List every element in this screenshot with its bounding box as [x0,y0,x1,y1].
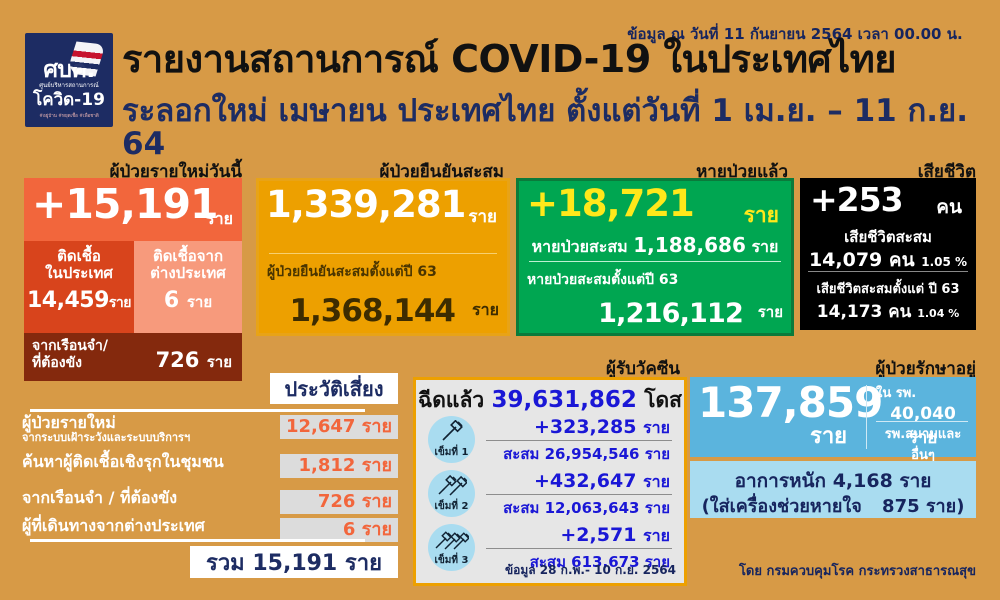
card-imported: ติดเชื้อจาก ต่างประเทศ 6 ราย [134,241,242,333]
dose-1-new-value: +323,285 [534,416,636,438]
imported-value: 6 [164,288,179,313]
risk-row-label: ผู้ป่วยรายใหม่ จากระบบเฝ้าระวังและระบบบร… [22,415,190,443]
domestic-value-wrap: 14,459ราย [24,288,134,314]
cumulative-value: 1,339,281 [266,186,465,223]
card-treatment: 137,859 ราย ใน รพ. 40,040 ราย รพ.สนามและ… [690,377,976,457]
recovered-cumulative-row: หายป่วยสะสม 1,188,686 ราย [527,233,783,260]
risk-row-label: ค้นหาผู้ติดเชื้อเชิงรุกในชุมชน [22,454,224,471]
domestic-unit: ราย [109,295,131,311]
risk-row-0: ผู้ป่วยรายใหม่ จากระบบเฝ้าระวังและระบบบร… [22,415,398,443]
dose-2-cum: สะสม 12,063,643 ราย [503,496,670,520]
vaccine-header-unit: โดส [644,388,682,412]
recovered-cum-unit: ราย [751,237,778,256]
risk-history-tag: ประวัติเสี่ยง [270,373,398,404]
imported-label: ติดเชื้อจาก ต่างประเทศ [134,241,242,283]
cumulative-unit: ราย [468,203,497,230]
risk-history-rule-top [30,409,365,412]
risk-history-total: รวม 15,191 ราย [190,546,398,578]
prison-label: จากเรือนจำ/ ที่ต้องขัง [32,338,108,372]
risk-row-label-text: จากเรือนจำ / ที่ต้องขัง [22,488,177,507]
thai-flag-icon [66,42,105,77]
dose-1-cum: สะสม 26,954,546 ราย [503,442,670,466]
ventilator-label: (ใส่เครื่องช่วยหายใจ [702,496,862,517]
dose-3-new: +2,571 ราย [560,524,670,549]
risk-row-label-text: ค้นหาผู้ติดเชื้อเชิงรุกในชุมชน [22,452,224,471]
vaccine-header-value: 39,631,862 [491,387,637,413]
deaths-since63-label: เสียชีวิตสะสมตั้งแต่ ปี 63 [800,278,976,299]
prison-unit: ราย [207,353,232,371]
risk-row-label-text: ผู้ป่วยรายใหม่ [22,413,116,432]
vaccine-dose-2: เข็มที่ 2 +432,647 ราย สะสม 12,063,643 ร… [424,470,676,517]
dose-2-new: +432,647 ราย [534,470,670,495]
recovered-since63-label: หายป่วยสะสมตั้งแต่ปี 63 [527,269,678,291]
new-cases-unit: ราย [206,207,233,232]
imported-unit: ราย [187,293,212,311]
treatment-hospital-label: ใน รพ. [876,382,970,403]
ventilator-row: (ใส่เครื่องช่วยหายใจ 875 ราย) [690,491,976,520]
recovered-unit: ราย [744,199,779,232]
recovered-cum-label: หายป่วยสะสม [532,237,628,256]
dose-2-new-unit: ราย [643,472,670,491]
new-cases-value: +15,191 [32,184,218,225]
risk-row-value: 1,812 ราย [280,454,398,478]
risk-row-sublabel: จากระบบเฝ้าระวังและระบบบริการฯ [22,432,190,444]
risk-row-label: ผู้ที่เดินทางจากต่างประเทศ [22,518,205,535]
ccsa-logo: ศบค. ศูนย์บริหารสถานการณ์ โควิด-19 #อยู่… [25,33,113,127]
ventilator-value: 875 ราย) [882,496,964,517]
logo-covid: โควิด-19 [33,92,105,109]
deaths-value: +253 [810,183,903,216]
card-vaccine: ฉีดแล้ว 39,631,862 โดส เข็มที่ 1 +323,28… [413,377,687,586]
card-recovered: +18,721 ราย หายป่วยสะสม 1,188,686 ราย หา… [516,178,794,336]
vaccine-dose-1: เข็มที่ 1 +323,285 ราย สะสม 26,954,546 ร… [424,416,676,463]
prison-value: 726 [156,348,200,372]
recovered-cum-value: 1,188,686 [633,233,746,257]
deaths-unit: คน [936,192,962,222]
divider [866,385,867,449]
deaths-cum-pct: 1.05 % [921,255,967,269]
risk-row-label: จากเรือนจำ / ที่ต้องขัง [22,490,177,507]
divider [876,421,968,422]
vaccine-header-label: ฉีดแล้ว [418,388,484,412]
credit-line: โดย กรมควบคุมโรค กระทรวงสาธารณสุข [739,560,976,581]
vaccine-footnote: ข้อมูล 28 ก.พ.- 10 ก.ย. 2564 [505,561,676,580]
deaths-since63-value: 14,173 คน [817,302,912,322]
risk-row-label-text: ผู้ที่เดินทางจากต่างประเทศ [22,516,205,535]
card-domestic: ติดเชื้อ ในประเทศ 14,459ราย [24,241,134,333]
card-cumulative: 1,339,281 ราย ผู้ป่วยยืนยันสะสมตั้งแต่ปี… [256,178,510,336]
cumulative-since63-value: 1,368,144 [289,293,455,329]
deaths-since63-pct: 1.04 % [917,307,959,320]
prison-label-line1: จากเรือนจำ/ [32,338,108,354]
recovered-value: +18,721 [527,185,694,222]
severe-value: 4,168 ราย [833,470,932,492]
treatment-value: 137,859 [698,382,882,424]
severe-label: อาการหนัก [735,470,826,492]
domestic-label-line1: ติดเชื้อ [57,247,101,265]
card-prison: จากเรือนจำ/ ที่ต้องขัง 726 ราย [24,333,242,381]
divider [269,253,497,254]
deaths-since63-row: 14,173 คน 1.04 % [800,298,976,325]
dose-1-new-unit: ราย [643,418,670,437]
cumulative-since63-label: ผู้ป่วยยืนยันสะสมตั้งแต่ปี 63 [267,261,437,283]
dose-2-label: เข็มที่ 2 [435,499,469,514]
dose-1-new: +323,285 ราย [534,416,670,441]
recovered-since63-unit: ราย [758,300,783,324]
card-severe: อาการหนัก 4,168 ราย (ใส่เครื่องช่วยหายใจ… [690,461,976,518]
risk-row-2: จากเรือนจำ / ที่ต้องขัง 726 ราย [22,490,398,518]
imported-label-line2: ต่างประเทศ [150,264,226,282]
treatment-field-label: รพ.สนามและอื่นๆ [876,423,970,465]
cumulative-since63-unit: ราย [472,298,499,323]
dose-3-label: เข็มที่ 3 [435,553,469,568]
syringe-3-icon: เข็มที่ 3 [428,524,475,571]
syringe-2-icon: เข็มที่ 2 [428,470,475,517]
infographic-root: ข้อมูล ณ วันที่ 11 กันยายน 2564 เวลา 00.… [0,0,1000,600]
card-new-cases: +15,191 ราย [24,178,242,241]
domestic-label-line2: ในประเทศ [45,264,113,282]
divider [808,271,968,272]
treatment-unit: ราย [810,418,847,453]
domestic-label: ติดเชื้อ ในประเทศ [24,241,134,283]
dose-3-new-value: +2,571 [560,524,636,546]
divider [529,261,781,262]
imported-label-line1: ติดเชื้อจาก [153,247,223,265]
deaths-cum-value: 14,079 คน [809,249,915,271]
imported-value-wrap: 6 ราย [134,288,242,314]
risk-row-value: 12,647 ราย [280,415,398,439]
risk-row-value: 726 ราย [280,490,398,514]
recovered-since63-value: 1,216,112 [598,298,743,329]
prison-value-wrap: 726 ราย [156,348,232,374]
syringe-1-icon: เข็มที่ 1 [428,416,475,463]
page-title: รายงานสถานการณ์ COVID-19 ในประเทศไทย [122,40,982,80]
prison-label-line2: ที่ต้องขัง [32,355,82,371]
logo-subtitle: ศูนย์บริหารสถานการณ์ [39,83,99,90]
risk-row-1: ค้นหาผู้ติดเชื้อเชิงรุกในชุมชน 1,812 ราย [22,454,398,482]
dose-1-label: เข็มที่ 1 [435,445,469,460]
card-deaths: +253 คน เสียชีวิตสะสม 14,079 คน 1.05 % เ… [800,178,976,330]
page-subtitle: ระลอกใหม่ เมษายน ประเทศไทย ตั้งแต่วันที่… [122,95,982,160]
dose-3-new-unit: ราย [643,526,670,545]
dose-2-new-value: +432,647 [534,470,636,492]
logo-tagline: #อยู่บ้าน #หยุดเชื้อ #เพื่อชาติ [39,112,99,119]
domestic-value: 14,459 [27,288,109,313]
risk-history-rule-bottom [30,539,365,542]
vaccine-header: ฉีดแล้ว 39,631,862 โดส [416,384,684,417]
